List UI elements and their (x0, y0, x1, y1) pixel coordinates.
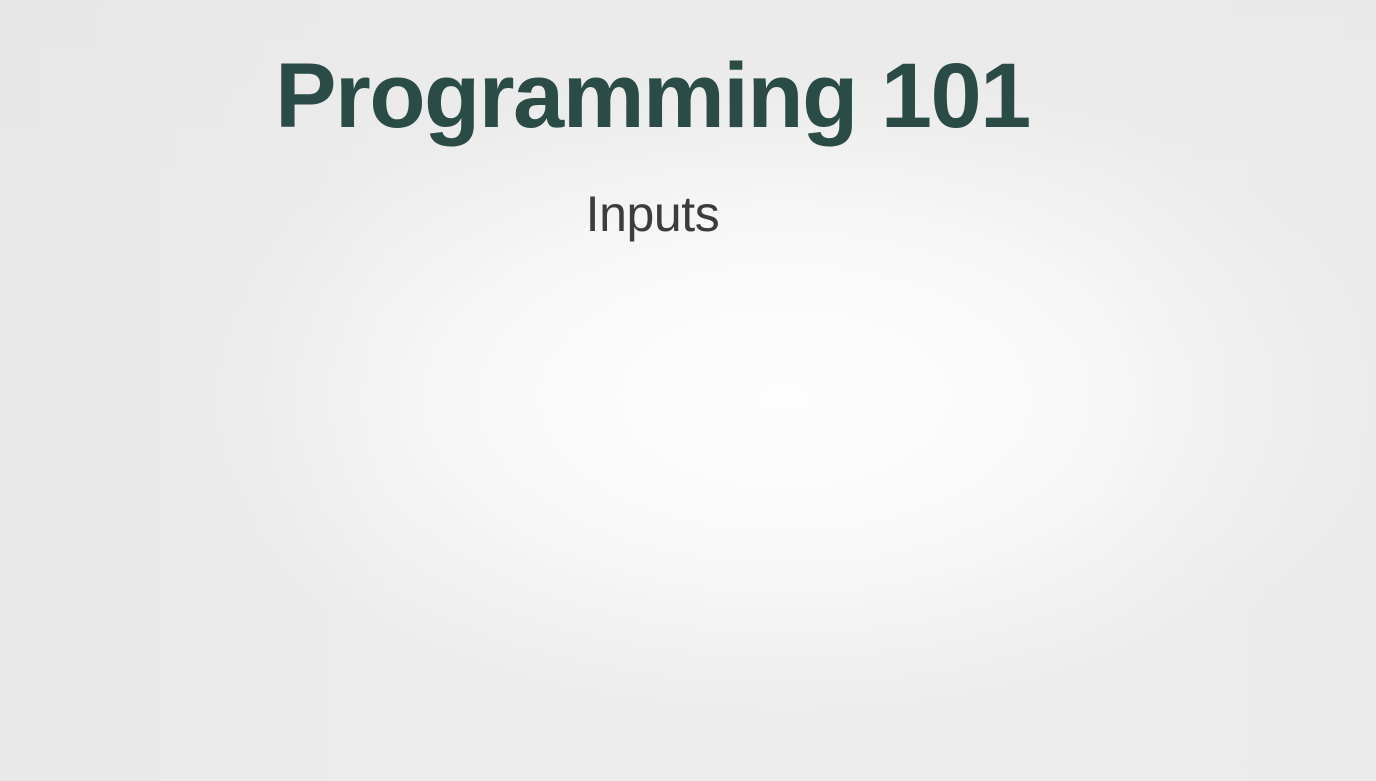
presentation-slide: Programming 101 Inputs (0, 0, 1376, 781)
slide-content-area (0, 320, 1376, 781)
slide-title: Programming 101 (0, 48, 1305, 145)
slide-subtitle: Inputs (0, 145, 1305, 242)
slide-text-block: Programming 101 Inputs (0, 0, 1305, 242)
